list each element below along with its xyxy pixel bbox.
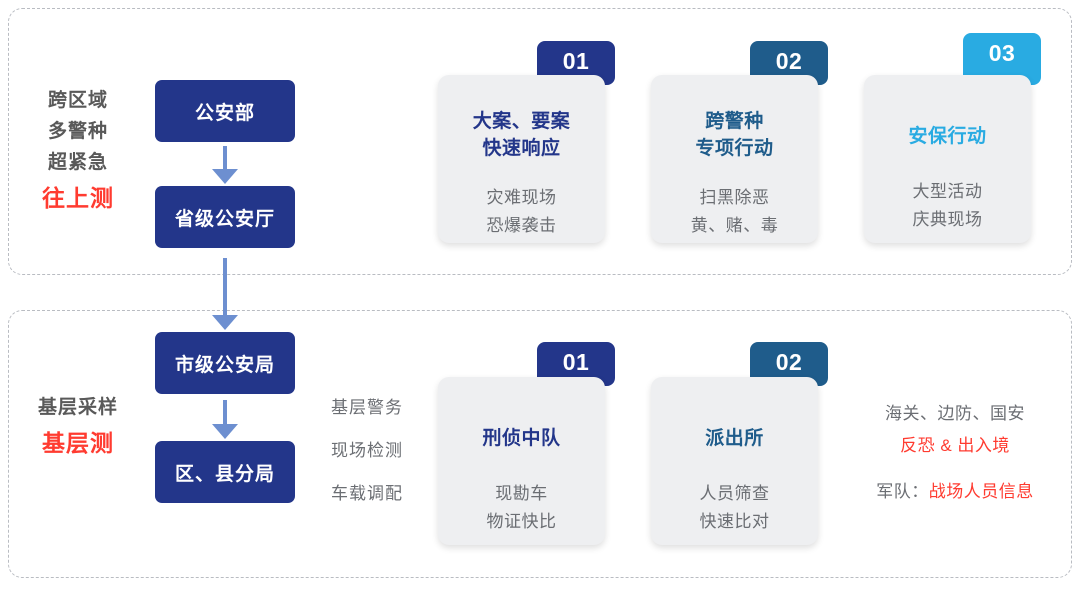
bottom-card-02-title: 派出所 xyxy=(705,425,764,452)
arrow-ministry-to-province xyxy=(212,146,238,184)
top-card-01-number: 01 xyxy=(563,48,590,75)
bottom-label-highlight: 基层测 xyxy=(18,423,138,463)
top-card-01-title-line-1: 大案、要案 xyxy=(473,108,571,135)
bottom-card-01-face[interactable]: 刑侦中队 现勘车 物证快比 xyxy=(438,377,605,545)
org-box-city: 市级公安局 xyxy=(155,332,295,394)
top-card-02-body: 扫黑除恶 黄、赌、毒 xyxy=(691,184,779,240)
org-box-province: 省级公安厅 xyxy=(155,186,295,248)
org-box-city-label: 市级公安局 xyxy=(175,350,275,377)
bottom-card-01-title: 刑侦中队 xyxy=(482,425,560,452)
top-label-line-2: 多警种 xyxy=(18,116,138,147)
bottom-mid-text-line-3: 车载调配 xyxy=(312,472,422,515)
bottom-card-02-body-line-1: 人员筛查 xyxy=(700,480,770,508)
bottom-right-notes: 海关、边防、国安 反恐 & 出入境 军队：战场人员信息 xyxy=(855,398,1055,508)
top-card-03-body-line-1: 大型活动 xyxy=(913,178,983,206)
top-card-01-face[interactable]: 大案、要案 快速响应 灾难现场 恐爆袭击 xyxy=(438,75,605,243)
top-card-03-number: 03 xyxy=(989,40,1016,67)
top-label-line-1: 跨区域 xyxy=(18,85,138,116)
bottom-label-line-1: 基层采样 xyxy=(18,392,138,423)
top-card-02-body-line-1: 扫黑除恶 xyxy=(691,184,779,212)
bottom-card-02-body: 人员筛查 快速比对 xyxy=(700,480,770,536)
top-card-02-face[interactable]: 跨警种 专项行动 扫黑除恶 黄、赌、毒 xyxy=(651,75,818,243)
top-card-02-title: 跨警种 专项行动 xyxy=(695,108,773,162)
bottom-card-01-title-line-1: 刑侦中队 xyxy=(482,425,560,452)
bottom-card-02-title-line-1: 派出所 xyxy=(705,425,764,452)
bottom-card-02-number: 02 xyxy=(776,349,803,376)
top-left-label-stack: 跨区域 多警种 超紧急 往上测 xyxy=(18,85,138,218)
arrow-province-to-city xyxy=(212,258,238,334)
bottom-card-01-body-line-1: 现勘车 xyxy=(487,480,557,508)
bottom-mid-text-line-1: 基层警务 xyxy=(312,386,422,429)
top-card-02-title-line-2: 专项行动 xyxy=(695,135,773,162)
top-card-03-title-line-1: 安保行动 xyxy=(908,123,986,150)
top-card-02-title-line-1: 跨警种 xyxy=(695,108,773,135)
bottom-left-label-stack: 基层采样 基层测 xyxy=(18,392,138,463)
top-card-01-body: 灾难现场 恐爆袭击 xyxy=(487,184,557,240)
top-card-03-title: 安保行动 xyxy=(908,123,986,150)
top-label-highlight: 往上测 xyxy=(18,178,138,218)
top-card-01-body-line-2: 恐爆袭击 xyxy=(487,212,557,240)
org-box-district-label: 区、县分局 xyxy=(175,459,275,486)
top-card-02-number: 02 xyxy=(776,48,803,75)
org-box-ministry: 公安部 xyxy=(155,80,295,142)
bottom-mid-text-line-2: 现场检测 xyxy=(312,429,422,472)
note-line-3-red: 战场人员信息 xyxy=(929,482,1034,501)
top-card-01-body-line-1: 灾难现场 xyxy=(487,184,557,212)
top-card-03-body: 大型活动 庆典现场 xyxy=(913,178,983,234)
bottom-card-01-number: 01 xyxy=(563,349,590,376)
bottom-card-02-face[interactable]: 派出所 人员筛查 快速比对 xyxy=(651,377,818,545)
top-card-01-title: 大案、要案 快速响应 xyxy=(473,108,571,162)
note-line-2: 反恐 & 出入境 xyxy=(855,430,1055,462)
bottom-mid-text-column: 基层警务 现场检测 车载调配 xyxy=(312,386,422,515)
top-card-03-body-line-2: 庆典现场 xyxy=(913,206,983,234)
top-card-02-body-line-2: 黄、赌、毒 xyxy=(691,212,779,240)
bottom-card-02-body-line-2: 快速比对 xyxy=(700,508,770,536)
note-line-3-prefix: 军队： xyxy=(876,482,929,501)
top-card-03-face[interactable]: 安保行动 大型活动 庆典现场 xyxy=(864,75,1031,243)
diagram-canvas: 跨区域 多警种 超紧急 往上测 公安部 省级公安厅 01 大案、要案 快速响应 … xyxy=(0,0,1080,590)
org-box-district: 区、县分局 xyxy=(155,441,295,503)
note-line-3: 军队：战场人员信息 xyxy=(855,476,1055,508)
arrow-city-to-district xyxy=(212,400,238,440)
top-label-line-3: 超紧急 xyxy=(18,147,138,178)
note-line-1: 海关、边防、国安 xyxy=(855,398,1055,430)
bottom-card-01-body: 现勘车 物证快比 xyxy=(487,480,557,536)
org-box-ministry-label: 公安部 xyxy=(195,98,255,125)
bottom-card-01-body-line-2: 物证快比 xyxy=(487,508,557,536)
top-card-01-title-line-2: 快速响应 xyxy=(473,135,571,162)
org-box-province-label: 省级公安厅 xyxy=(175,204,275,231)
